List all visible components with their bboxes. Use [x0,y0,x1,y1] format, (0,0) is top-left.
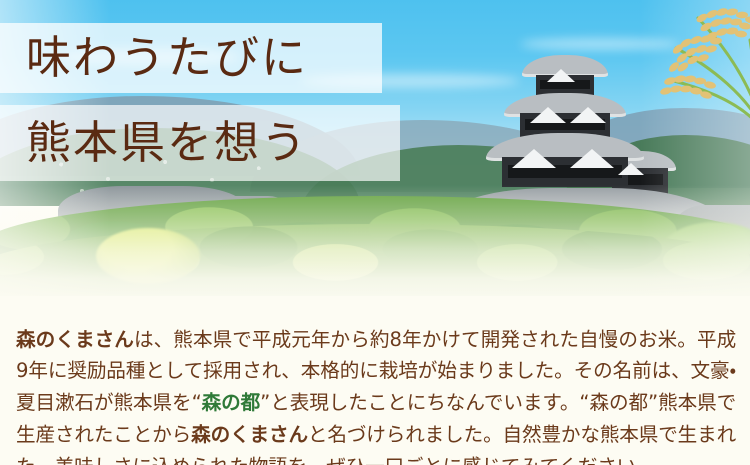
castle-gable [512,149,556,168]
castle-gable [547,69,575,82]
description-panel: 森のくまさんは、熊本県で平成元年から約8年かけて開発された自慢のお米。平成9年に… [0,296,750,465]
bottom-fade [0,185,750,305]
castle-gable [570,149,614,168]
body-segment: ” [260,391,270,414]
headline-line-1-text: 味わうたびに [26,36,308,81]
brand-name: 森のくまさん [16,328,134,351]
brand-name: 森のくまさん [191,423,308,446]
body-segment: “ [192,391,202,414]
castle-gable [530,107,566,123]
rice-ear-icon [612,0,750,121]
castle-gable [570,107,606,123]
highlight-phrase: 森の都 [202,391,261,414]
headline-line-1: 味わうたびに [0,23,382,93]
headline-line-2: 熊本県を想う [0,105,400,181]
description-text: 森のくまさんは、熊本県で平成元年から約8年かけて開発された自慢のお米。平成9年に… [16,324,736,465]
rice-grains [659,7,750,100]
promo-banner: 味わうたびに 熊本県を想う 森のくまさんは、熊本県で平成元年から約8年かけて開発… [0,0,750,465]
headline-line-2-text: 熊本県を想う [26,121,308,166]
